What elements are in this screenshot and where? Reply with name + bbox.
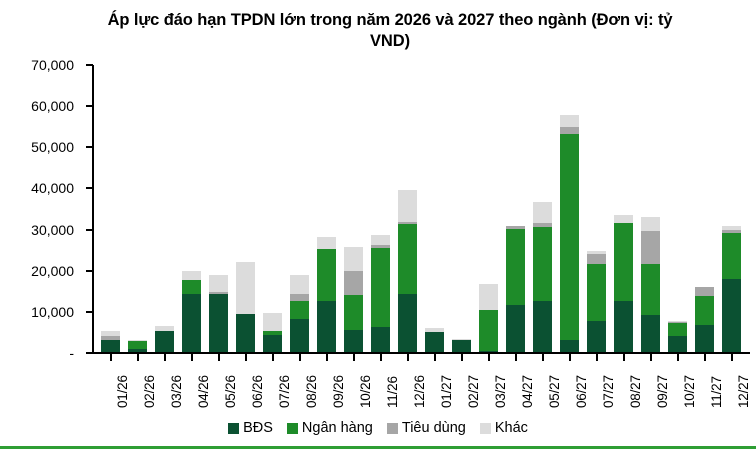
bar-stack[interactable] xyxy=(614,215,633,352)
legend-item[interactable]: Tiêu dùng xyxy=(387,420,466,436)
x-axis-tick-label: 11/26 xyxy=(386,376,400,408)
legend-item[interactable]: Ngân hàng xyxy=(287,420,373,436)
x-axis-tick-label: 08/26 xyxy=(305,375,319,408)
y-axis-tick-label: 70,000 xyxy=(31,58,74,72)
bar-segment xyxy=(371,327,390,352)
x-axis-tick xyxy=(218,354,220,361)
bar-segment xyxy=(614,301,633,352)
bar-segment xyxy=(236,314,255,352)
bar-segment xyxy=(182,294,201,352)
bar-segment xyxy=(587,251,606,253)
bar-segment xyxy=(398,294,417,352)
bar-segment xyxy=(371,245,390,248)
bar-stack[interactable] xyxy=(479,284,498,352)
x-axis-tick-label: 04/26 xyxy=(197,375,211,408)
bar-segment xyxy=(263,331,282,335)
bar-segment xyxy=(587,264,606,321)
y-axis-tick xyxy=(86,270,93,272)
x-axis-tick xyxy=(380,354,382,361)
bar-segment xyxy=(182,280,201,294)
y-axis-tick xyxy=(86,64,93,66)
bar-segment xyxy=(182,271,201,281)
bar-stack[interactable] xyxy=(452,339,471,352)
y-axis-tick xyxy=(86,187,93,189)
x-axis-tick-label: 10/26 xyxy=(359,375,373,408)
bar-segment xyxy=(128,341,147,350)
x-axis-tick-label: 10/27 xyxy=(683,375,697,408)
x-axis-tick xyxy=(110,354,112,361)
bar-segment xyxy=(209,292,228,294)
x-axis-tick-label: 12/27 xyxy=(737,375,751,408)
x-axis-tick-label: 07/26 xyxy=(278,375,292,408)
bar-stack[interactable] xyxy=(344,247,363,352)
x-axis-tick-label: 12/26 xyxy=(413,375,427,408)
bar-segment xyxy=(155,331,174,352)
bar-stack[interactable] xyxy=(668,321,687,352)
x-axis-tick xyxy=(326,354,328,361)
x-axis-tick-label: 06/26 xyxy=(251,375,265,408)
bar-segment xyxy=(236,262,255,315)
bar-segment xyxy=(479,310,498,351)
bar-stack[interactable] xyxy=(101,331,120,352)
bar-stack[interactable] xyxy=(317,237,336,352)
x-axis-tick xyxy=(434,354,436,361)
legend-swatch-icon xyxy=(228,423,239,434)
bar-segment xyxy=(533,223,552,227)
legend-label: BĐS xyxy=(243,420,273,436)
bar-segment xyxy=(668,323,687,335)
bar-stack[interactable] xyxy=(425,328,444,352)
bar-segment xyxy=(614,215,633,222)
x-axis-tick xyxy=(137,354,139,361)
x-axis-tick xyxy=(245,354,247,361)
bar-segment xyxy=(425,328,444,332)
x-axis-tick xyxy=(353,354,355,361)
bar-segment xyxy=(668,321,687,322)
x-axis-tick xyxy=(677,354,679,361)
bar-segment xyxy=(479,284,498,310)
bar-segment xyxy=(641,315,660,352)
bar-stack[interactable] xyxy=(128,340,147,352)
bar-segment xyxy=(560,134,579,340)
bar-segment xyxy=(290,301,309,319)
x-axis-tick xyxy=(461,354,463,361)
bar-stack[interactable] xyxy=(371,235,390,352)
bar-segment xyxy=(263,335,282,352)
x-axis-tick-label: 03/26 xyxy=(170,375,184,408)
x-axis-tick xyxy=(596,354,598,361)
bar-segment xyxy=(722,226,741,230)
legend-swatch-icon xyxy=(387,423,398,434)
y-axis-tick-label: 60,000 xyxy=(31,99,74,113)
bar-segment xyxy=(209,294,228,352)
y-axis-tick xyxy=(86,311,93,313)
legend-swatch-icon xyxy=(480,423,491,434)
bar-segment xyxy=(479,351,498,352)
x-axis-tick-label: 02/27 xyxy=(467,375,481,408)
bar-segment xyxy=(371,248,390,327)
bar-segment xyxy=(506,229,525,305)
y-axis-tick xyxy=(86,352,93,354)
bar-segment xyxy=(290,275,309,294)
y-axis-tick-label: 50,000 xyxy=(31,140,74,154)
bar-segment xyxy=(722,279,741,352)
legend-label: Khác xyxy=(495,420,528,436)
bar-segment xyxy=(101,336,120,340)
bar-segment xyxy=(398,190,417,223)
bar-segment xyxy=(668,322,687,323)
x-axis-tick xyxy=(488,354,490,361)
bar-stack[interactable] xyxy=(398,190,417,353)
bar-stack[interactable] xyxy=(263,313,282,352)
bar-stack[interactable] xyxy=(533,202,552,352)
bar-segment xyxy=(317,301,336,352)
chart-title: Áp lực đáo hạn TPDN lớn trong năm 2026 v… xyxy=(90,10,690,52)
bar-segment xyxy=(344,271,363,296)
bottom-accent-rule xyxy=(0,446,756,449)
x-axis-tick-label: 02/26 xyxy=(143,375,157,408)
bar-segment xyxy=(641,231,660,264)
bar-segment xyxy=(560,340,579,352)
y-axis-tick-label: 20,000 xyxy=(31,264,74,278)
x-axis-tick-label: 01/27 xyxy=(440,375,454,408)
bar-segment xyxy=(533,301,552,352)
x-axis-tick xyxy=(515,354,517,361)
y-axis-tick-label: 10,000 xyxy=(31,305,74,319)
x-axis-tick-label: 11/27 xyxy=(710,376,724,408)
bar-segment xyxy=(506,226,525,230)
x-axis-tick-label: 08/27 xyxy=(629,375,643,408)
y-axis-tick-label: - xyxy=(69,346,74,360)
x-axis-tick xyxy=(569,354,571,361)
y-axis-labels: -10,00020,00030,00040,00050,00060,00070,… xyxy=(0,65,84,353)
x-axis-tick-label: 07/27 xyxy=(602,375,616,408)
bar-segment xyxy=(587,254,606,264)
bar-stack[interactable] xyxy=(182,271,201,352)
bar-segment xyxy=(398,222,417,224)
bar-segment xyxy=(722,233,741,279)
y-axis-tick-label: 40,000 xyxy=(31,181,74,195)
x-axis-tick xyxy=(731,354,733,361)
x-axis-tick-label: 03/27 xyxy=(494,375,508,408)
bar-segment xyxy=(641,217,660,231)
legend-item[interactable]: BĐS xyxy=(228,420,273,436)
bar-segment xyxy=(695,287,714,296)
bar-segment xyxy=(317,237,336,249)
x-axis-tick-label: 09/27 xyxy=(656,375,670,408)
bar-stack[interactable] xyxy=(722,226,741,352)
bar-segment xyxy=(452,340,471,352)
x-axis-labels: 01/2602/2603/2604/2605/2606/2607/2608/26… xyxy=(92,362,750,414)
bar-stack[interactable] xyxy=(155,326,174,352)
bar-stack[interactable] xyxy=(587,251,606,352)
bar-stack[interactable] xyxy=(506,226,525,352)
bar-stack[interactable] xyxy=(236,262,255,353)
bar-stack[interactable] xyxy=(209,275,228,352)
bar-segment xyxy=(425,332,444,352)
legend-label: Ngân hàng xyxy=(302,420,373,436)
legend-item[interactable]: Khác xyxy=(480,420,528,436)
bar-segment xyxy=(344,247,363,271)
x-axis-tick-label: 05/26 xyxy=(224,375,238,408)
chart-legend: BĐSNgân hàngTiêu dùngKhác xyxy=(0,420,756,436)
bar-segment xyxy=(344,330,363,352)
bar-stack[interactable] xyxy=(290,275,309,352)
bar-segment xyxy=(560,127,579,134)
legend-swatch-icon xyxy=(287,423,298,434)
bar-segment xyxy=(722,230,741,232)
bar-segment xyxy=(128,349,147,352)
bar-segment xyxy=(587,321,606,352)
bar-segment xyxy=(695,296,714,325)
bar-stack[interactable] xyxy=(641,217,660,352)
bar-segment xyxy=(614,223,633,301)
bar-segment xyxy=(533,202,552,223)
bar-segment xyxy=(344,295,363,330)
plot-area xyxy=(92,65,750,353)
bar-segment xyxy=(398,224,417,294)
y-axis-tick xyxy=(86,146,93,148)
y-axis-tick xyxy=(86,105,93,107)
bar-segment xyxy=(155,326,174,331)
legend-label: Tiêu dùng xyxy=(402,420,466,436)
x-axis-tick xyxy=(191,354,193,361)
x-axis-tick xyxy=(164,354,166,361)
y-axis-tick-label: 30,000 xyxy=(31,223,74,237)
bar-segment xyxy=(695,325,714,352)
bar-segment xyxy=(317,249,336,301)
bar-segment xyxy=(371,235,390,245)
bar-segment xyxy=(290,319,309,352)
bar-segment xyxy=(668,336,687,352)
chart-container: Áp lực đáo hạn TPDN lớn trong năm 2026 v… xyxy=(0,0,756,450)
bar-stack[interactable] xyxy=(560,115,579,352)
x-axis-tick-label: 04/27 xyxy=(521,375,535,408)
bar-segment xyxy=(101,340,120,352)
x-axis-tick-label: 01/26 xyxy=(116,375,130,408)
x-axis-tick xyxy=(623,354,625,361)
bar-segment xyxy=(101,331,120,336)
x-axis-tick-label: 05/27 xyxy=(548,375,562,408)
bar-stack[interactable] xyxy=(695,287,714,352)
bar-segment xyxy=(560,115,579,127)
bar-segment xyxy=(506,305,525,352)
bar-segment xyxy=(533,227,552,301)
x-axis-tick-label: 06/27 xyxy=(575,375,589,408)
bar-segment xyxy=(290,294,309,301)
x-axis-tick xyxy=(650,354,652,361)
bar-segment xyxy=(263,313,282,331)
x-axis-tick xyxy=(272,354,274,361)
bar-segment xyxy=(641,264,660,315)
bar-segment xyxy=(452,339,471,340)
bar-segment xyxy=(209,275,228,291)
x-axis-tick xyxy=(542,354,544,361)
bars-layer xyxy=(92,65,750,353)
y-axis-tick xyxy=(86,229,93,231)
x-axis-tick-label: 09/26 xyxy=(332,375,346,408)
x-axis-tick xyxy=(704,354,706,361)
x-axis-tick xyxy=(407,354,409,361)
x-axis-tick xyxy=(299,354,301,361)
